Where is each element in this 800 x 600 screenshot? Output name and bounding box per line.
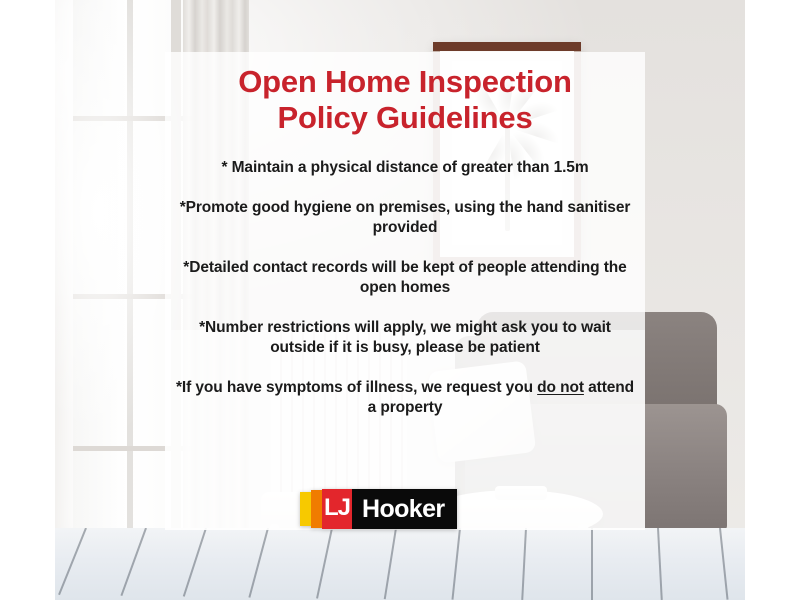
guideline-illness-emphasis: do not xyxy=(537,379,584,396)
floor-plank xyxy=(657,528,663,600)
lj-hooker-logo: LJ Hooker xyxy=(300,489,457,529)
logo-initials: LJ xyxy=(324,496,350,522)
poster-canvas: Open Home Inspection Policy Guidelines *… xyxy=(0,0,800,600)
floor-plank xyxy=(120,528,147,596)
floor-plank xyxy=(719,528,729,600)
floor-plank xyxy=(451,528,461,600)
floor-plank xyxy=(591,528,593,600)
guideline-illness-before: *If you have symptoms of illness, we req… xyxy=(176,379,537,396)
guideline-item-distance: * Maintain a physical distance of greate… xyxy=(173,158,637,178)
floor-plank xyxy=(183,528,207,597)
page-title: Open Home Inspection Policy Guidelines xyxy=(165,52,645,136)
guideline-item-records: *Detailed contact records will be kept o… xyxy=(173,258,637,298)
page-title-line-2: Policy Guidelines xyxy=(171,100,639,136)
poster-content: Open Home Inspection Policy Guidelines *… xyxy=(165,52,645,530)
logo-block-red: LJ xyxy=(322,489,352,529)
guideline-item-illness: *If you have symptoms of illness, we req… xyxy=(173,378,637,418)
logo-block-yellow xyxy=(300,492,311,526)
logo-wordmark-plate: Hooker xyxy=(352,489,457,529)
logo-wordmark: Hooker xyxy=(362,497,445,522)
floor-icon xyxy=(55,528,745,600)
floor-plank xyxy=(58,528,87,595)
guideline-item-hygiene: *Promote good hygiene on premises, using… xyxy=(173,198,637,238)
framed-art-top-rail xyxy=(433,42,581,51)
floor-plank xyxy=(316,528,333,599)
guideline-list: * Maintain a physical distance of greate… xyxy=(165,136,645,418)
floor-plank xyxy=(384,528,397,599)
floor-plank xyxy=(248,528,269,598)
page-title-line-1: Open Home Inspection xyxy=(238,64,572,99)
floor-plank xyxy=(521,528,527,600)
guideline-item-numbers: *Number restrictions will apply, we migh… xyxy=(173,318,637,358)
logo-block-orange xyxy=(311,490,322,528)
